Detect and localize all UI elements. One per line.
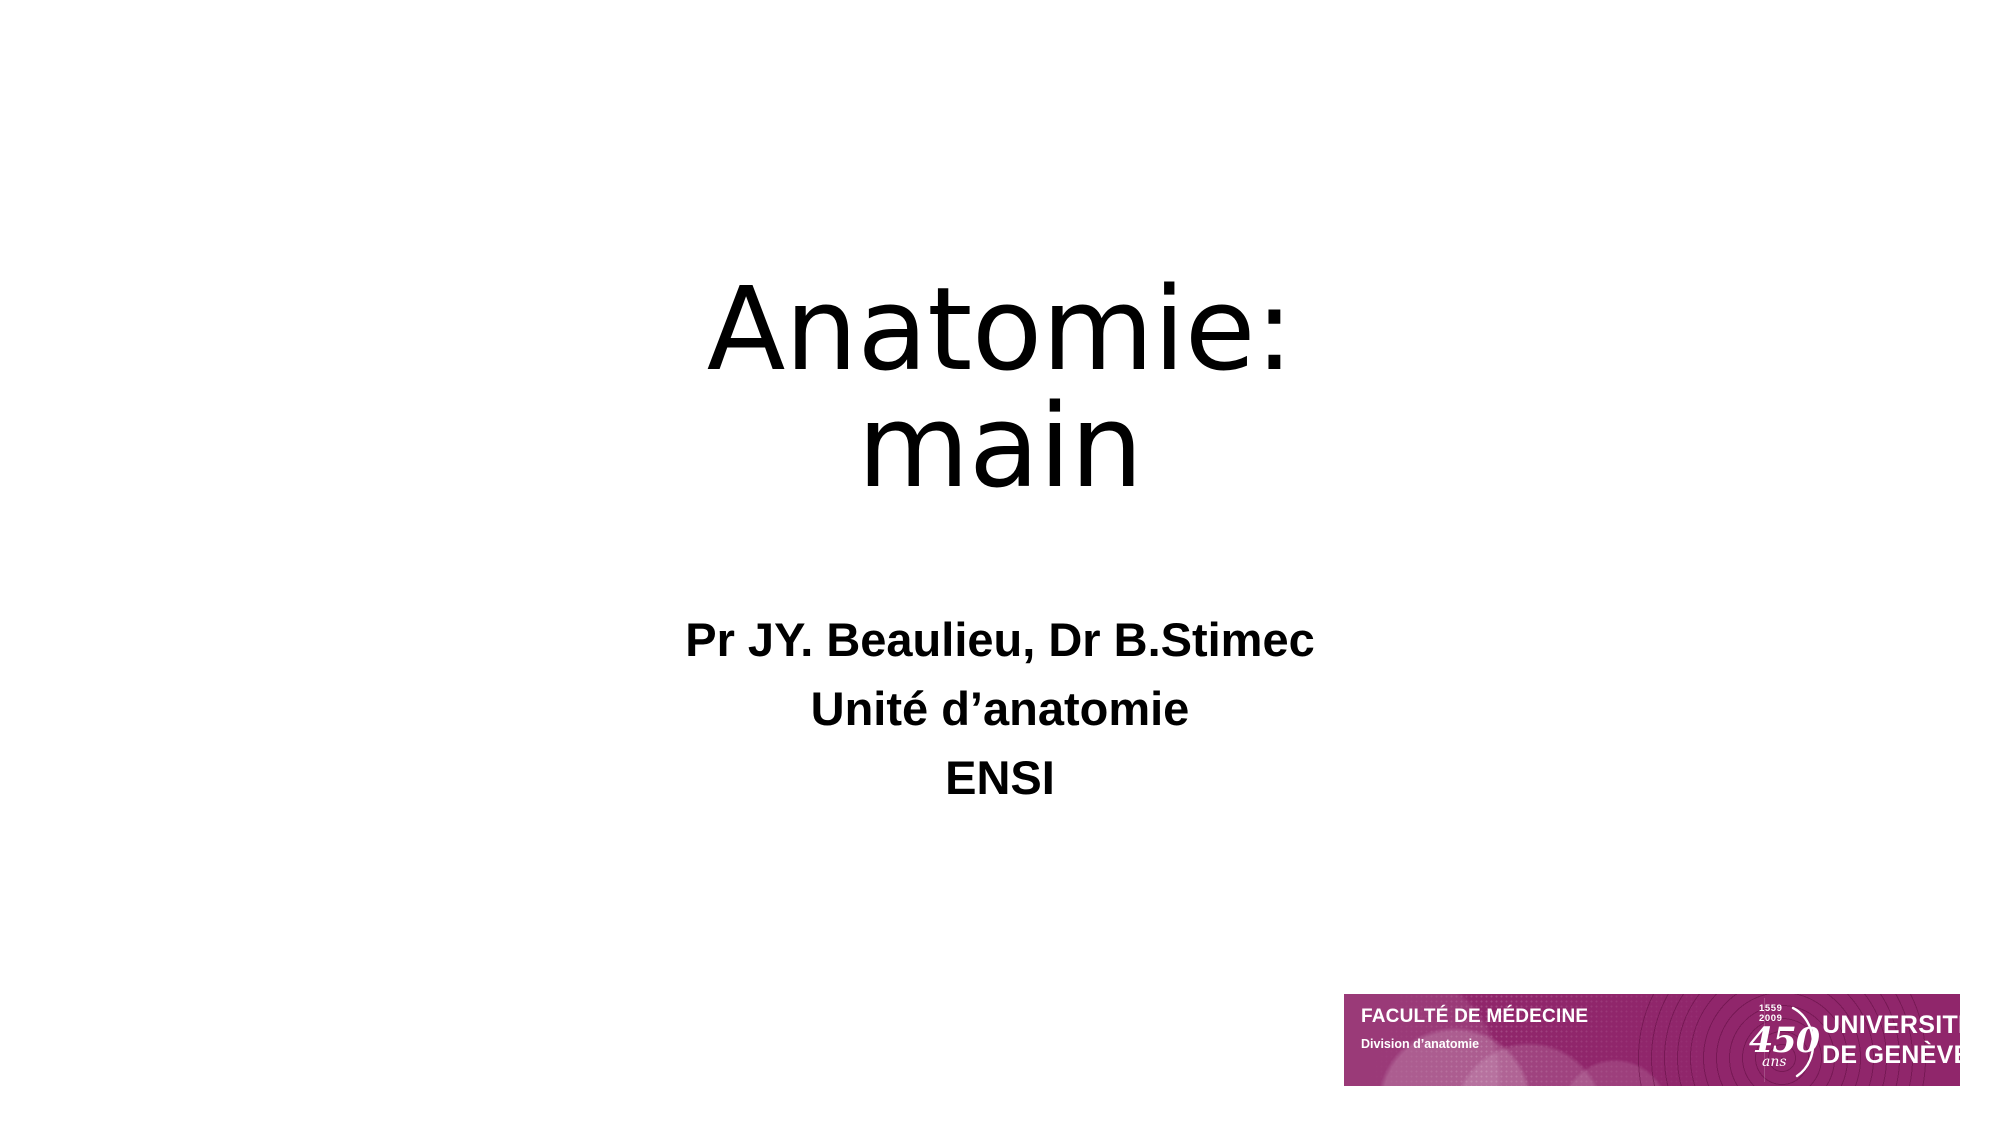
subtitle-authors: Pr JY. Beaulieu, Dr B.Stimec (330, 605, 1670, 674)
university-name-block: UNIVERSITÉ DE GENÈVE (1822, 1011, 1960, 1070)
slide-subtitle: Pr JY. Beaulieu, Dr B.Stimec Unité d’ana… (330, 605, 1670, 812)
slide-title-line-2: main (330, 389, 1670, 506)
presentation-title-slide: Anatomie: main Pr JY. Beaulieu, Dr B.Sti… (0, 0, 2000, 1125)
faculty-block: FACULTÉ DE MÉDECINE Division d’anatomie (1361, 1006, 1588, 1051)
slide-title-line-1: Anatomie: (330, 272, 1670, 389)
subtitle-unit: Unité d’anatomie (330, 674, 1670, 743)
university-name-line-1: UNIVERSITÉ (1822, 1011, 1960, 1041)
subtitle-course: ENSI (330, 743, 1670, 812)
slide-title: Anatomie: main (330, 272, 1670, 507)
faculty-name-label: FACULTÉ DE MÉDECINE (1361, 1006, 1588, 1028)
anniversary-unit: ans (1762, 1054, 1787, 1070)
university-name-line-2: DE GENÈVE (1822, 1041, 1960, 1071)
anniversary-mark: 1559 2009 450 ans (1747, 1002, 1815, 1080)
unige-logo-banner: FACULTÉ DE MÉDECINE Division d’anatomie … (1344, 994, 1960, 1086)
division-name-label: Division d’anatomie (1361, 1037, 1588, 1051)
